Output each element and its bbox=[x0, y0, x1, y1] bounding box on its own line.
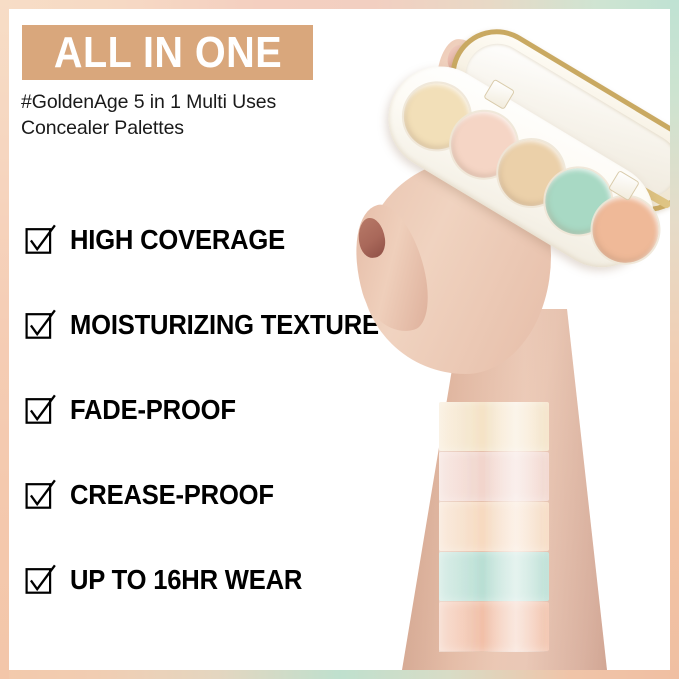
checkbox-checked-icon bbox=[25, 479, 56, 510]
checkbox-checked-icon bbox=[25, 394, 56, 425]
product-feature-card: ALL IN ONE #GoldenAge 5 in 1 Multi Uses … bbox=[0, 0, 679, 679]
card-content-area: ALL IN ONE #GoldenAge 5 in 1 Multi Uses … bbox=[9, 9, 670, 670]
checkbox-checked-icon bbox=[25, 564, 56, 595]
feature-label: UP TO 16HR WEAR bbox=[70, 566, 302, 594]
product-subtitle-line2: Concealer Palettes bbox=[21, 115, 351, 141]
feature-label: FADE-PROOF bbox=[70, 396, 236, 424]
swatch-vanilla-cream bbox=[439, 402, 549, 451]
product-subtitle: #GoldenAge 5 in 1 Multi Uses Concealer P… bbox=[21, 89, 351, 142]
checkbox-checked-icon bbox=[25, 224, 56, 255]
feature-item-high-coverage: HIGH COVERAGE bbox=[25, 197, 355, 282]
swatch-mint-green bbox=[439, 552, 549, 601]
page-title: ALL IN ONE bbox=[53, 31, 281, 75]
checkbox-checked-icon bbox=[25, 309, 56, 340]
product-photo bbox=[339, 9, 670, 670]
card-border-left bbox=[0, 0, 9, 679]
headline-banner: ALL IN ONE bbox=[22, 25, 313, 80]
feature-item-16hr-wear: UP TO 16HR WEAR bbox=[25, 537, 355, 622]
feature-item-fade-proof: FADE-PROOF bbox=[25, 367, 355, 452]
feature-label: MOISTURIZING TEXTURE bbox=[70, 311, 379, 339]
feature-item-crease-proof: CREASE-PROOF bbox=[25, 452, 355, 537]
card-border-right bbox=[670, 0, 679, 679]
card-border-top bbox=[0, 0, 679, 9]
feature-label: CREASE-PROOF bbox=[70, 481, 274, 509]
product-subtitle-line1: #GoldenAge 5 in 1 Multi Uses bbox=[21, 89, 351, 115]
swatch-peach bbox=[439, 602, 549, 651]
card-border-bottom bbox=[0, 670, 679, 679]
feature-label: HIGH COVERAGE bbox=[70, 226, 285, 254]
copy-column: ALL IN ONE #GoldenAge 5 in 1 Multi Uses … bbox=[9, 9, 354, 670]
feature-item-moisturizing-texture: MOISTURIZING TEXTURE bbox=[25, 282, 355, 367]
feature-list: HIGH COVERAGE MOISTURIZING TEXTURE bbox=[25, 197, 355, 622]
swatch-stack bbox=[439, 402, 549, 652]
swatch-warm-beige bbox=[439, 502, 549, 551]
swatch-soft-pink bbox=[439, 452, 549, 501]
